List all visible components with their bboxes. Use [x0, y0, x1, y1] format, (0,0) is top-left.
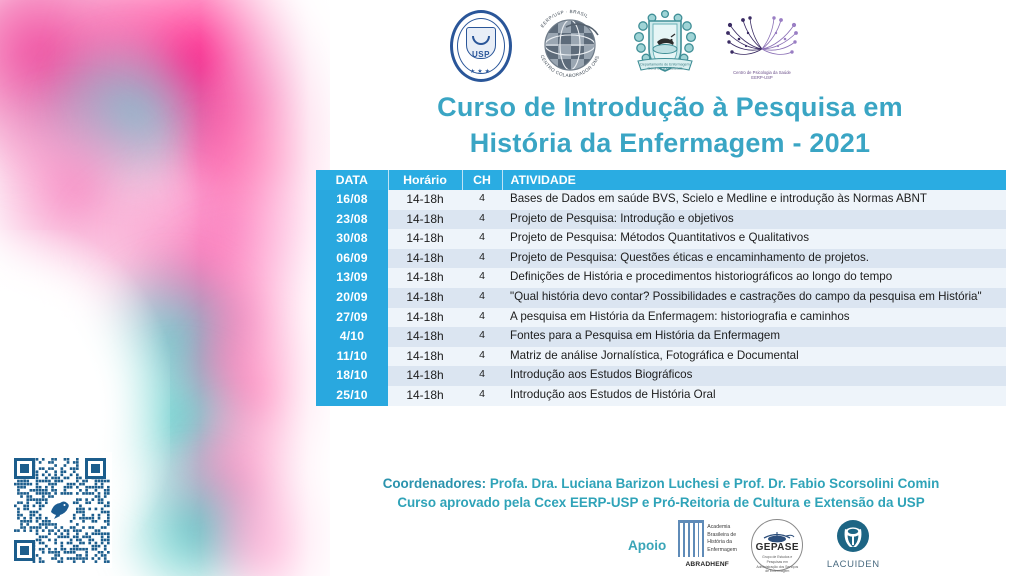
cell-atividade: Projeto de Pesquisa: Questões éticas e e… — [502, 249, 1006, 269]
table-row: 18/10 14-18h 4 Introdução aos Estudos Bi… — [316, 366, 1006, 386]
centro-psicologia-saude-butterfly-icon: Centro de Psicologia da Saúde EERP-USP — [722, 9, 802, 83]
cell-data: 27/09 — [316, 308, 388, 328]
coordinators-names: Profa. Dra. Luciana Barizon Luchesi e Pr… — [490, 476, 939, 491]
cell-horario: 14-18h — [388, 229, 462, 249]
page-title-line1: Curso de Introdução à Pesquisa em — [330, 90, 1010, 126]
schedule-table-body: 16/08 14-18h 4 Bases de Dados em saúde B… — [316, 190, 1006, 406]
cell-ch: 4 — [462, 210, 502, 230]
table-header-row: DATA Horário CH ATIVIDADE — [316, 170, 1006, 190]
cell-horario: 14-18h — [388, 347, 462, 367]
page-title: Curso de Introdução à Pesquisa em Histór… — [330, 90, 1010, 162]
ink-blob — [0, 90, 180, 290]
butterfly-caption-line2: EERP-USP — [722, 75, 802, 81]
ink-blob — [160, 400, 330, 576]
cell-atividade: Projeto de Pesquisa: Métodos Quantitativ… — [502, 229, 1006, 249]
abradhenf-line1: Academia — [707, 524, 737, 532]
abradhenf-acronym: ABRADHENF — [676, 561, 738, 568]
institution-logo-row: USP ★★★ — [450, 6, 850, 86]
cell-data: 13/09 — [316, 268, 388, 288]
schedule-table: DATA Horário CH ATIVIDADE 16/08 14-18h 4… — [316, 170, 1006, 406]
cell-ch: 4 — [462, 347, 502, 367]
ink-blob — [175, 300, 330, 490]
ink-blob — [90, 250, 260, 430]
column-header-ch: CH — [462, 170, 502, 190]
cell-horario: 14-18h — [388, 386, 462, 406]
coordinators-line: Coordenadores: Profa. Dra. Luciana Bariz… — [316, 474, 1006, 493]
cell-ch: 4 — [462, 327, 502, 347]
lacuiden-acronym: LACUIDEN — [816, 559, 890, 570]
support-label: Apoio — [628, 538, 666, 553]
coat-of-arms-crest-icon: Departamento de Enfermagem Geral e Espec… — [626, 9, 704, 83]
ink-blob — [0, 20, 130, 170]
cell-ch: 4 — [462, 386, 502, 406]
cell-data: 11/10 — [316, 347, 388, 367]
ink-blob — [230, 150, 330, 300]
table-row: 11/10 14-18h 4 Matriz de análise Jornalí… — [316, 347, 1006, 367]
cell-horario: 14-18h — [388, 288, 462, 308]
cell-data: 23/08 — [316, 210, 388, 230]
svg-text:Geral e Especializada: Geral e Especializada — [648, 67, 683, 71]
ink-blob — [140, 215, 330, 425]
ink-blob — [40, 30, 220, 200]
white-fade — [200, 0, 330, 576]
abradhenf-line4: Enfermagem — [707, 547, 737, 555]
cell-data: 20/09 — [316, 288, 388, 308]
cell-data: 16/08 — [316, 190, 388, 210]
cell-atividade: Bases de Dados em saúde BVS, Scielo e Me… — [502, 190, 1006, 210]
cell-ch: 4 — [462, 366, 502, 386]
cell-data: 18/10 — [316, 366, 388, 386]
table-row: 4/10 14-18h 4 Fontes para a Pesquisa em … — [316, 327, 1006, 347]
support-logo-row: Apoio Academia Brasileira de História da… — [628, 516, 928, 574]
ink-blob — [105, 340, 255, 510]
cell-horario: 14-18h — [388, 190, 462, 210]
cell-data: 06/09 — [316, 249, 388, 269]
cell-ch: 4 — [462, 268, 502, 288]
cell-data: 25/10 — [316, 386, 388, 406]
ink-blob — [115, 450, 275, 576]
table-row: 16/08 14-18h 4 Bases de Dados em saúde B… — [316, 190, 1006, 210]
ink-blob — [60, 0, 330, 200]
cell-atividade: Projeto de Pesquisa: Introdução e objeti… — [502, 210, 1006, 230]
abradhenf-logo-icon: Academia Brasileira de História da Enfer… — [676, 519, 738, 571]
qr-code[interactable] — [8, 452, 112, 568]
table-row: 23/08 14-18h 4 Projeto de Pesquisa: Intr… — [316, 210, 1006, 230]
ink-blob — [0, 0, 190, 190]
cell-atividade: Definições de História e procedimentos h… — [502, 268, 1006, 288]
coordinators-label: Coordenadores: — [383, 476, 486, 491]
cell-ch: 4 — [462, 288, 502, 308]
cell-data: 4/10 — [316, 327, 388, 347]
page-title-line2: História da Enfermagem - 2021 — [330, 126, 1010, 162]
cell-atividade: Introdução aos Estudos de História Oral — [502, 386, 1006, 406]
column-header-horario: Horário — [388, 170, 462, 190]
cell-ch: 4 — [462, 229, 502, 249]
table-row: 13/09 14-18h 4 Definições de História e … — [316, 268, 1006, 288]
table-row: 30/08 14-18h 4 Projeto de Pesquisa: Méto… — [316, 229, 1006, 249]
cell-atividade: Matriz de análise Jornalística, Fotográf… — [502, 347, 1006, 367]
usp-seal-text: USP — [450, 50, 512, 59]
ink-blob — [150, 10, 330, 210]
cell-horario: 14-18h — [388, 268, 462, 288]
table-row: 25/10 14-18h 4 Introdução aos Estudos de… — [316, 386, 1006, 406]
cell-horario: 14-18h — [388, 249, 462, 269]
cell-ch: 4 — [462, 190, 502, 210]
cell-ch: 4 — [462, 308, 502, 328]
cell-atividade: Fontes para a Pesquisa em História da En… — [502, 327, 1006, 347]
usp-nursing-school-seal-icon: USP ★★★ — [450, 10, 512, 82]
ink-blob — [60, 170, 260, 360]
who-collaborating-centre-globe-icon: EERP/USP · BRASIL CENTRO COLABORADOR OMS — [530, 9, 608, 83]
ink-blob — [120, 120, 330, 340]
ink-blob — [190, 60, 330, 260]
table-row: 20/09 14-18h 4 "Qual história devo conta… — [316, 288, 1006, 308]
abradhenf-line2: Brasileira de — [707, 532, 737, 540]
cell-horario: 14-18h — [388, 366, 462, 386]
abradhenf-line3: História da — [707, 539, 737, 547]
gepase-acronym: GEPASE — [748, 542, 806, 553]
gepase-logo-icon: GEPASE Grupo de Estudos e Pesquisas em A… — [748, 518, 806, 572]
ink-blob — [215, 470, 330, 576]
cell-data: 30/08 — [316, 229, 388, 249]
cell-ch: 4 — [462, 249, 502, 269]
approval-line: Curso aprovado pela Ccex EERP-USP e Pró-… — [316, 493, 1006, 512]
lacuiden-logo-icon: LACUIDEN — [816, 518, 890, 572]
table-row: 27/09 14-18h 4 A pesquisa em História da… — [316, 308, 1006, 328]
cell-horario: 14-18h — [388, 327, 462, 347]
cell-atividade: A pesquisa em História da Enfermagem: hi… — [502, 308, 1006, 328]
table-row: 06/09 14-18h 4 Projeto de Pesquisa: Ques… — [316, 249, 1006, 269]
cell-horario: 14-18h — [388, 210, 462, 230]
column-header-atividade: ATIVIDADE — [502, 170, 1006, 190]
cell-atividade: "Qual história devo contar? Possibilidad… — [502, 288, 1006, 308]
cell-atividade: Introdução aos Estudos Biográficos — [502, 366, 1006, 386]
column-header-data: DATA — [316, 170, 388, 190]
footer-credits: Coordenadores: Profa. Dra. Luciana Bariz… — [316, 474, 1006, 512]
gepase-caption: Grupo de Estudos e Pesquisas em Administ… — [756, 555, 798, 574]
cell-horario: 14-18h — [388, 308, 462, 328]
